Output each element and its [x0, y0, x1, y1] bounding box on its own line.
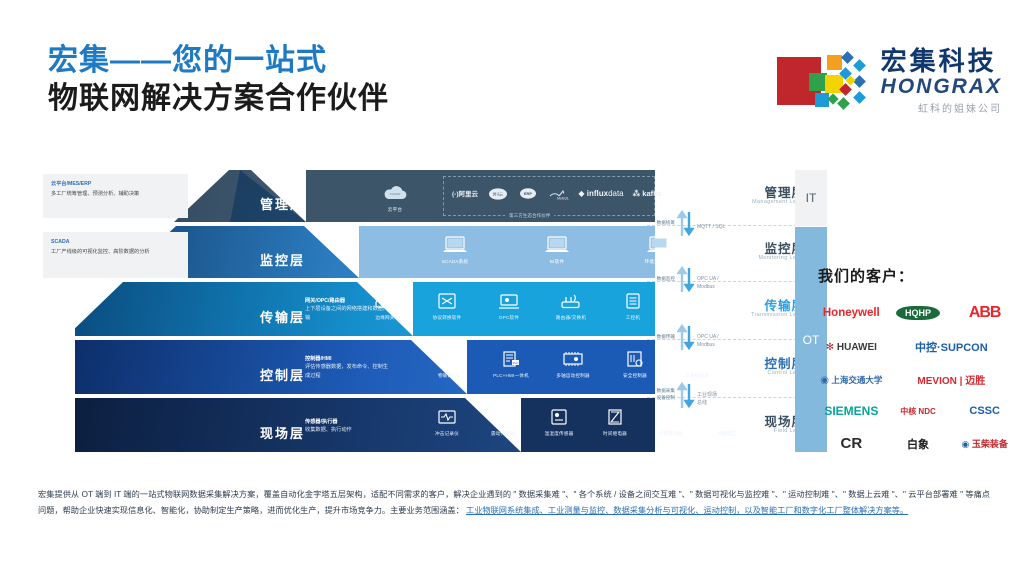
icon-row-transmission: 边缘网关 协议转换软件 OPC软件 路由器/交换机 工控机	[361, 290, 657, 321]
icon-caption: 路由器/交换机	[556, 315, 586, 321]
bi-software-icon	[544, 234, 570, 256]
time-relay-icon	[603, 406, 627, 428]
third-party-caption: 第三方生态合作伙伴	[505, 213, 554, 219]
customer-logo-honeywell: Honeywell	[823, 307, 880, 319]
icon-caption: 云平台	[388, 207, 402, 213]
cloud-platform-icon: CLOUD	[382, 182, 408, 204]
icon-cell[interactable]: PLC PLC+HMI一体机	[487, 348, 535, 379]
edge-gateway-icon	[373, 290, 397, 312]
temp-humidity-sensor-icon	[547, 406, 571, 428]
icon-cell[interactable]: 冲击记录仪	[423, 406, 471, 437]
icon-cell[interactable]: 物联网+AI	[425, 348, 473, 379]
it-domain-label: IT	[795, 170, 827, 226]
flow-protocol-label: 工业现场 总线	[697, 392, 733, 407]
icon-cell[interactable]: 路由器/交换机	[547, 290, 595, 321]
customer-logo-supcon: 中控·SUPCON	[915, 339, 988, 355]
shock-recorder-icon	[435, 406, 459, 428]
icon-caption: 工控机	[626, 315, 640, 321]
icon-caption: 物联网+AI	[438, 373, 460, 379]
customer-logo-siemens: SIEMENS	[824, 404, 878, 418]
logo-text-en: HONGRAX	[881, 75, 1002, 98]
industrial-pc-icon	[621, 290, 645, 312]
icon-caption: 多轴运动控制器	[556, 373, 590, 379]
customer-logo-cssc: CSSC	[969, 405, 1000, 417]
customer-logo-grid: Honeywell HQHP ABB ✻ HUAWEI 中控·SUPCON ◉ …	[818, 304, 1018, 452]
icon-cell[interactable]: CLOUD 云平台	[371, 182, 419, 213]
inline-desc-field: 传感器/执行器 收集数据、执行动作	[305, 418, 391, 435]
customer-logo-baixiang: 白象	[907, 436, 929, 452]
icon-caption: 协议转换软件	[433, 315, 462, 321]
customer-logo-nuclear-ndc: 中核 NDC	[900, 406, 936, 417]
slide-root: 宏集——您的一站式 物联网解决方案合作伙伴 宏集科技 HONGRAX 虹科的姐妹…	[0, 0, 1024, 576]
svg-text:CLOUD: CLOUD	[390, 192, 401, 196]
icon-cell[interactable]: 震动传感器	[479, 406, 527, 437]
inline-desc-control: 控制器/HMI 评估传感器数据，发布命令、控制生成过程	[305, 355, 391, 381]
icon-caption: PLC+HMI一体机	[493, 373, 529, 379]
icon-caption: 震动传感器	[491, 431, 515, 437]
customer-logo-sjtu: ◉ 上海交通大学	[820, 374, 882, 386]
customer-logo-yuchai: ◉ 玉柴装备	[961, 437, 1007, 450]
title-line-2: 物联网解决方案合作伙伴	[48, 80, 389, 118]
layer-label-management: 管理层	[260, 194, 305, 213]
layer-label-transmission: 传输层	[260, 307, 305, 326]
customer-logo-abb: ABB	[969, 304, 1001, 322]
mysql-icon[interactable]: MySQL	[543, 186, 575, 200]
plc-hmi-icon: PLC	[499, 348, 523, 370]
footer-description: 宏集提供从 OT 端到 IT 端的一站式物联网数据采集解决方案，覆盖自动化金字塔…	[38, 487, 990, 519]
logo-text-cn: 宏集科技	[881, 48, 997, 75]
side-note-management: 云平台/MES/ERP 多工厂统筹管理、预测分析、辅助决策	[43, 174, 188, 218]
logo-mark-icon	[777, 51, 869, 113]
icon-row-management: CLOUD 云平台	[371, 182, 419, 213]
flow-group-1: 数据统筹 MQTT / SQL	[649, 208, 733, 238]
vibration-sensor-icon	[491, 406, 515, 428]
scada-monitor-icon	[442, 234, 468, 256]
icon-row-monitoring: SCADA系统 BI软件 环境监测系统	[431, 234, 683, 265]
customers-panel: 我们的客户： Honeywell HQHP ABB ✻ HUAWEI 中控·SU…	[818, 265, 1018, 452]
icon-cell[interactable]: OPC软件	[485, 290, 533, 321]
icon-caption: OPC软件	[499, 315, 519, 321]
flow-protocol-label: MQTT / SQL	[697, 224, 733, 231]
safety-controller-icon	[623, 348, 647, 370]
flow-group-3: 数据传输 OPC UA / Modbus	[649, 322, 733, 352]
flow-up-label: 数据统筹	[649, 220, 675, 227]
icon-caption: 时间继电器	[603, 431, 627, 437]
customers-heading: 我们的客户：	[818, 265, 1018, 286]
influxdata-icon[interactable]: ◆ influxdata	[575, 186, 627, 200]
layer-label-monitoring: 监控层	[260, 250, 305, 269]
icon-caption: 冲击记录仪	[435, 431, 459, 437]
icon-caption: 边缘网关	[375, 315, 394, 321]
icon-cell[interactable]: SCADA系统	[431, 234, 479, 265]
opc-software-icon	[497, 290, 521, 312]
layer-legend-column: 管理层 Management Layer 监控层 Monitoring Laye…	[647, 170, 817, 470]
updown-arrow-icon	[677, 380, 695, 410]
layer-label-field: 现场层	[260, 423, 305, 442]
flow-group-2: 数据监控 OPC UA / Modbus	[649, 264, 733, 294]
flow-up-label: 数据监控	[649, 276, 675, 283]
icon-caption: 温湿度传感器	[545, 431, 574, 437]
svg-text:腾讯云: 腾讯云	[493, 191, 504, 196]
flow-protocol-label: OPC UA / Modbus	[697, 334, 733, 349]
icon-cell[interactable]: 边缘网关	[361, 290, 409, 321]
icon-cell[interactable]: 多轴运动控制器	[549, 348, 597, 379]
aliyun-icon[interactable]: (-)阿里云	[447, 186, 483, 200]
icon-cell[interactable]: BI软件	[533, 234, 581, 265]
motion-controller-icon	[561, 348, 585, 370]
updown-arrow-icon	[677, 208, 695, 238]
layer-label-control: 控制层	[260, 365, 305, 384]
logo-subtitle: 虹科的姐妹公司	[918, 100, 1002, 115]
updown-arrow-icon	[677, 322, 695, 352]
icon-caption: BI软件	[550, 259, 564, 265]
tencent-cloud-icon[interactable]: 腾讯云	[483, 186, 513, 200]
iot-ai-icon	[437, 348, 461, 370]
updown-arrow-icon	[677, 264, 695, 294]
router-switch-icon	[559, 290, 583, 312]
flow-group-4: 数据采集 设备控制 工业现场 总线	[649, 380, 733, 410]
footer-link[interactable]: 工业物联网系统集成、工业测量与监控、数据采集分析与可视化、运动控制，以及智能工厂…	[466, 506, 908, 515]
icon-caption: 安全控制器	[623, 373, 647, 379]
erp-icon[interactable]: ERP	[513, 186, 543, 200]
icon-cell[interactable]: 协议转换软件	[423, 290, 471, 321]
page-title: 宏集——您的一站式 物联网解决方案合作伙伴	[48, 42, 389, 117]
flow-up-label: 数据传输	[649, 334, 675, 341]
svg-text:MySQL: MySQL	[557, 196, 569, 200]
svg-text:PLC: PLC	[513, 361, 520, 365]
customer-logo-hqhp: HQHP	[896, 306, 940, 320]
protocol-converter-icon	[435, 290, 459, 312]
customer-logo-cr-group: CR	[840, 435, 862, 452]
flow-protocol-label: OPC UA / Modbus	[697, 276, 733, 291]
customer-logo-huawei: ✻ HUAWEI	[826, 342, 877, 353]
icon-cell[interactable]: 时间继电器	[591, 406, 639, 437]
brand-logo: 宏集科技 HONGRAX 虹科的姐妹公司	[777, 48, 1002, 115]
icon-caption: SCADA系统	[442, 259, 468, 265]
flow-up-label: 数据采集 设备控制	[649, 388, 675, 401]
icon-cell[interactable]: 温湿度传感器	[535, 406, 583, 437]
side-note-monitoring: SCADA 工厂产线级的可视化监控、高阶数据的分析	[43, 232, 188, 278]
title-line-1: 宏集——您的一站式	[48, 42, 389, 80]
customer-logo-mevion: MEVION | 迈胜	[917, 372, 985, 387]
svg-text:ERP: ERP	[524, 191, 533, 196]
icon-row-third-party: (-)阿里云 腾讯云 ERP MySQL ◆ influxdata ⁂ kafk…	[447, 186, 667, 200]
